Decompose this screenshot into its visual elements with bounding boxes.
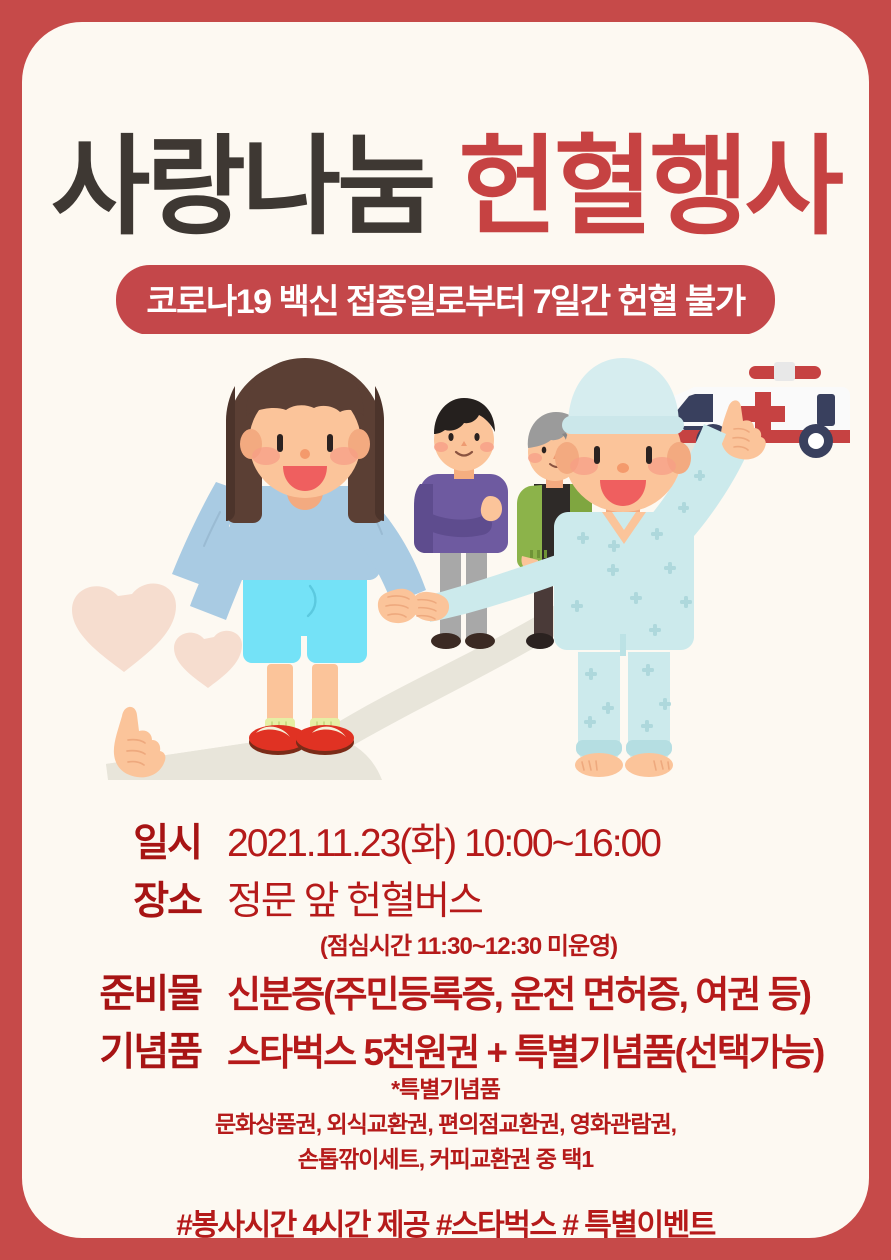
info-label-date: 일시 bbox=[22, 812, 227, 868]
info-row-place: 장소 정문 앞 헌혈버스 bbox=[22, 870, 869, 926]
event-info: 일시 2021.11.23(화) 10:00~16:00 장소 정문 앞 헌혈버… bbox=[22, 812, 869, 1079]
title-dark-part: 사랑나눔 bbox=[51, 126, 432, 247]
info-label-place: 장소 bbox=[22, 870, 227, 926]
lunch-note-row: (점심시간 11:30~12:30 미운영) bbox=[68, 926, 869, 961]
hashtags-row: #봉사시간 4시간 제공 #스타벅스 # 특별이벤트 bbox=[22, 1200, 869, 1238]
gift-detail-line-2: 손톱깎이세트, 커피교환권 중 택1 bbox=[22, 1142, 869, 1178]
info-value-place: 정문 앞 헌혈버스 bbox=[227, 870, 482, 926]
illustration bbox=[22, 334, 869, 804]
subtitle-banner: 코로나19 백신 접종일로부터 7일간 헌혈 불가 bbox=[116, 265, 774, 335]
gift-detail-title: *특별기념품 bbox=[22, 1072, 869, 1107]
subtitle-banner-wrap: 코로나19 백신 접종일로부터 7일간 헌혈 불가 bbox=[22, 265, 869, 335]
hashtags-text: #봉사시간 4시간 제공 #스타벅스 # 특별이벤트 bbox=[176, 1209, 715, 1238]
gift-detail-line-1: 문화상품권, 외식교환권, 편의점교환권, 영화관람권, bbox=[22, 1107, 869, 1143]
info-label-requirements: 준비물 bbox=[22, 963, 227, 1019]
info-row-date: 일시 2021.11.23(화) 10:00~16:00 bbox=[22, 812, 869, 868]
info-row-requirements: 준비물 신분증(주민등록증, 운전 면허증, 여권 등) bbox=[22, 963, 869, 1019]
info-row-gift: 기념품 스타벅스 5천원권 + 특별기념품(선택가능) bbox=[22, 1021, 869, 1077]
info-value-gift: 스타벅스 5천원권 + 특별기념품(선택가능) bbox=[227, 1022, 823, 1076]
title-red-part: 헌혈행사 bbox=[459, 126, 840, 247]
info-value-requirements: 신분증(주민등록증, 운전 면허증, 여권 등) bbox=[227, 964, 810, 1018]
info-label-gift: 기념품 bbox=[22, 1021, 227, 1077]
page-title: 사랑나눔 헌혈행사 bbox=[22, 130, 869, 243]
poster-root: 사랑나눔 헌혈행사 코로나19 백신 접종일로부터 7일간 헌혈 불가 bbox=[0, 0, 891, 1260]
poster-panel: 사랑나눔 헌혈행사 코로나19 백신 접종일로부터 7일간 헌혈 불가 bbox=[22, 22, 869, 1238]
gift-detail-block: *특별기념품 문화상품권, 외식교환권, 편의점교환권, 영화관람권, 손톱깎이… bbox=[22, 1072, 869, 1178]
lunch-note: (점심시간 11:30~12:30 미운영) bbox=[320, 933, 617, 960]
info-value-date: 2021.11.23(화) 10:00~16:00 bbox=[227, 812, 660, 868]
